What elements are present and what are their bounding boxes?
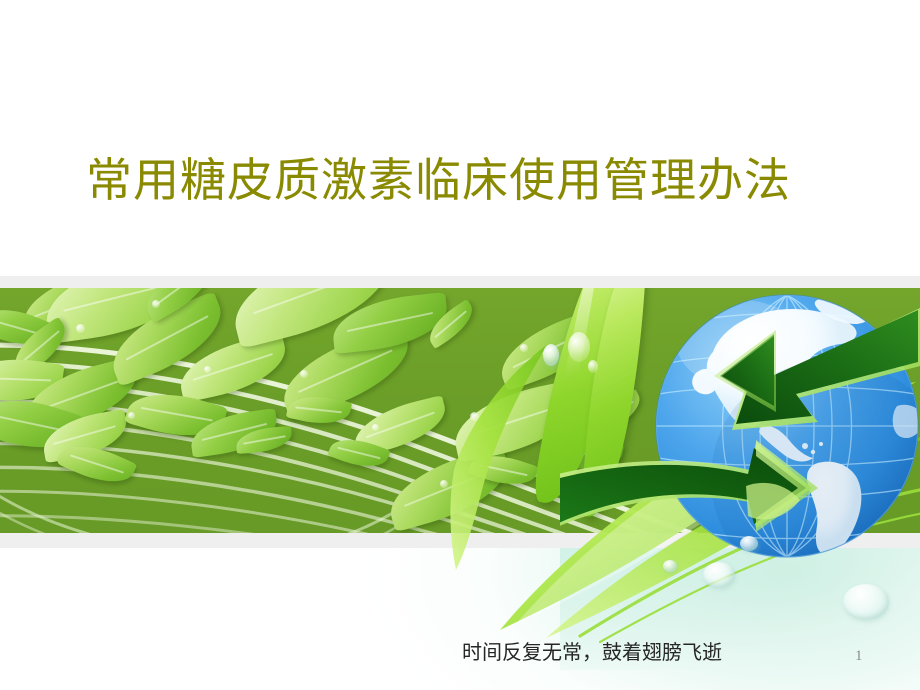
dew-drop-icon [372,424,379,431]
dew-drop-icon [152,300,160,308]
globe-icon [655,256,920,596]
dew-drop-icon [76,324,85,333]
water-droplet-icon [843,584,889,620]
dew-drop-icon [588,360,598,373]
dew-drop-icon [300,370,308,378]
dew-drop-icon [440,480,448,488]
water-droplet-icon [703,562,735,588]
water-droplet-icon [740,536,758,551]
dew-drop-icon [470,412,479,421]
water-droplet-icon [663,560,677,572]
presentation-slide: 常用糖皮质激素临床使用管理办法 时间反复无常，鼓着翅膀飞逝 1 [0,0,920,690]
page-title: 常用糖皮质激素临床使用管理办法 [86,152,846,210]
page-number: 1 [855,648,863,665]
dew-drop-icon [568,332,590,362]
water-droplet-icon [543,344,559,366]
footer-quote: 时间反复无常，鼓着翅膀飞逝 [462,640,722,666]
dew-drop-icon [520,344,528,352]
dew-drop-icon [128,412,135,419]
dew-drop-icon [204,366,211,373]
